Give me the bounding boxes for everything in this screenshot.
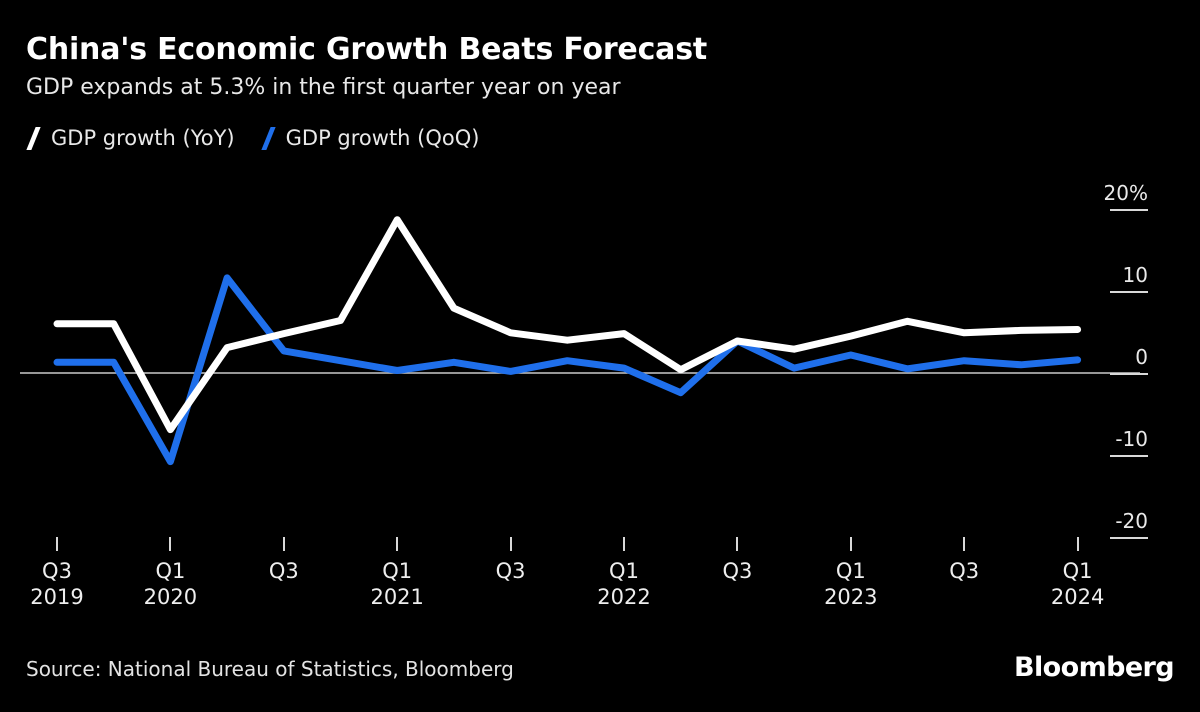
y-tick-label: 0 xyxy=(1135,345,1148,369)
slash-icon-yoy xyxy=(26,127,42,149)
x-tick-quarter: Q1 xyxy=(155,559,185,583)
chart-header: China's Economic Growth Beats Forecast G… xyxy=(26,32,1166,102)
chart-page: China's Economic Growth Beats Forecast G… xyxy=(0,0,1200,712)
legend-label-qoq: GDP growth (QoQ) xyxy=(286,126,480,150)
x-tick-label: Q3 xyxy=(496,558,526,610)
x-tick-label: Q12022 xyxy=(597,558,650,610)
x-tick-mark xyxy=(396,537,398,551)
x-tick-year: 2024 xyxy=(1051,584,1104,610)
x-tick-quarter: Q3 xyxy=(269,559,299,583)
x-tick-mark xyxy=(963,537,965,551)
x-tick-year: 2021 xyxy=(370,584,423,610)
x-tick-year xyxy=(949,584,979,610)
y-tick-mark xyxy=(1110,209,1148,211)
x-tick-label: Q3 xyxy=(269,558,299,610)
x-tick-label: Q12024 xyxy=(1051,558,1104,610)
y-tick-label: 10 xyxy=(1123,263,1148,287)
x-tick-mark xyxy=(283,537,285,551)
x-tick-year: 2023 xyxy=(824,584,877,610)
y-tick-label: -20 xyxy=(1115,509,1148,533)
y-tick-label: 20% xyxy=(1104,181,1148,205)
y-tick-mark xyxy=(1110,373,1148,375)
x-tick-quarter: Q3 xyxy=(496,559,526,583)
x-tick-quarter: Q1 xyxy=(1063,559,1093,583)
y-tick-mark xyxy=(1110,291,1148,293)
legend-label-yoy: GDP growth (YoY) xyxy=(51,126,235,150)
x-tick-mark xyxy=(1077,537,1079,551)
chart-subtitle: GDP expands at 5.3% in the first quarter… xyxy=(26,74,1166,102)
x-tick-year xyxy=(722,584,752,610)
x-tick-quarter: Q3 xyxy=(722,559,752,583)
x-tick-year xyxy=(269,584,299,610)
x-tick-label: Q3 xyxy=(949,558,979,610)
y-tick-mark xyxy=(1110,537,1148,539)
x-tick-quarter: Q1 xyxy=(836,559,866,583)
source-note: Source: National Bureau of Statistics, B… xyxy=(26,657,514,681)
x-tick-mark xyxy=(736,537,738,551)
slash-icon-qoq xyxy=(261,127,277,149)
x-tick-mark xyxy=(623,537,625,551)
x-tick-quarter: Q1 xyxy=(382,559,412,583)
x-tick-quarter: Q3 xyxy=(949,559,979,583)
chart-footer: Source: National Bureau of Statistics, B… xyxy=(26,652,1174,683)
x-tick-year: 2020 xyxy=(144,584,197,610)
series-line-qoq xyxy=(57,278,1078,462)
x-tick-label: Q12021 xyxy=(370,558,423,610)
x-tick-label: Q32019 xyxy=(30,558,83,610)
legend-item-yoy[interactable]: GDP growth (YoY) xyxy=(26,126,235,150)
x-tick-year xyxy=(496,584,526,610)
chart-legend: GDP growth (YoY) GDP growth (QoQ) xyxy=(26,126,479,150)
page-title: China's Economic Growth Beats Forecast xyxy=(26,32,1166,68)
x-tick-year: 2019 xyxy=(30,584,83,610)
y-tick-label: -10 xyxy=(1115,427,1148,451)
legend-item-qoq[interactable]: GDP growth (QoQ) xyxy=(261,126,480,150)
x-tick-mark xyxy=(56,537,58,551)
x-tick-quarter: Q1 xyxy=(609,559,639,583)
y-tick-mark xyxy=(1110,455,1148,457)
x-tick-quarter: Q3 xyxy=(42,559,72,583)
bloomberg-logo: Bloomberg xyxy=(1014,652,1174,683)
x-tick-label: Q3 xyxy=(722,558,752,610)
x-tick-mark xyxy=(850,537,852,551)
x-tick-year: 2022 xyxy=(597,584,650,610)
x-tick-label: Q12020 xyxy=(144,558,197,610)
x-tick-mark xyxy=(510,537,512,551)
series-line-yoy xyxy=(57,220,1078,430)
x-tick-label: Q12023 xyxy=(824,558,877,610)
x-tick-mark xyxy=(169,537,171,551)
